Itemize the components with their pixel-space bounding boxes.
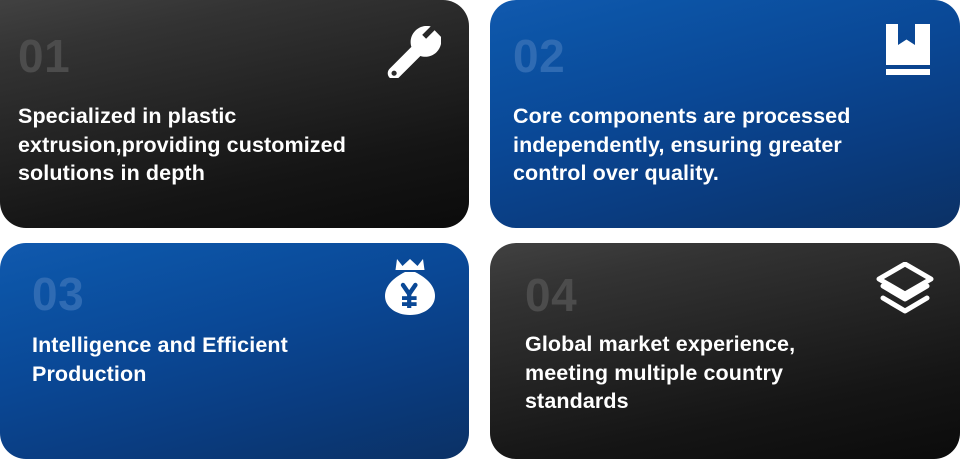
money-bag-yen-icon bbox=[383, 258, 437, 316]
card-number-01: 01 bbox=[18, 33, 70, 79]
card-text-01: Specialized in plastic extrusion,providi… bbox=[18, 102, 448, 188]
card-text-04: Global market experience, meeting multip… bbox=[525, 330, 935, 416]
feature-card-02[interactable]: 02 Core components are processed indepen… bbox=[490, 0, 960, 228]
feature-card-03[interactable]: 03 Intelligence and Efficient Production bbox=[0, 243, 469, 459]
feature-card-01[interactable]: 01 Specialized in plastic extrusion,prov… bbox=[0, 0, 469, 228]
card-text-03: Intelligence and Efficient Production bbox=[32, 331, 452, 388]
card-number-03: 03 bbox=[32, 271, 84, 317]
feature-card-04[interactable]: 04 Global market experience, meeting mul… bbox=[490, 243, 960, 459]
book-bookmark-icon bbox=[884, 24, 932, 76]
wrench-icon bbox=[385, 26, 441, 78]
card-number-02: 02 bbox=[513, 33, 565, 79]
card-number-04: 04 bbox=[525, 272, 577, 318]
layers-stack-icon bbox=[876, 262, 934, 318]
card-text-02: Core components are processed independen… bbox=[513, 102, 950, 188]
feature-card-grid: 01 Specialized in plastic extrusion,prov… bbox=[0, 0, 960, 459]
